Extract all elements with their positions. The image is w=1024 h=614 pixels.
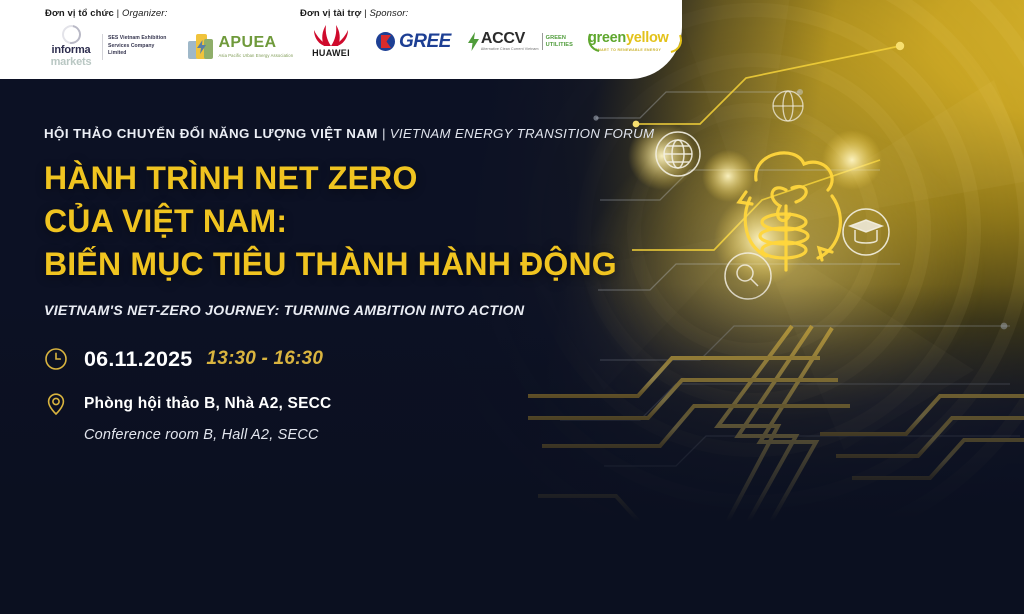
informa-company-name: SES Vietnam Exhibition Services Company …	[108, 35, 166, 58]
accv-tag-utilities: UTILITIES	[546, 42, 573, 49]
clock-icon	[44, 347, 68, 371]
event-venue-row: Phòng hội thảo B, Nhà A2, SECC	[44, 392, 654, 416]
huawei-flower-icon	[314, 25, 348, 46]
informa-company-line3: Limited	[108, 50, 166, 58]
huawei-logo: HUAWEI	[300, 25, 362, 58]
sponsor-group: Đơn vị tài trợ | Sponsor: HUAWEI	[300, 8, 668, 58]
informa-logo-mark: informa markets	[45, 25, 97, 68]
huawei-wordmark: HUAWEI	[312, 48, 350, 58]
sponsor-logo-row: HUAWEI GREE ACCV Alternative Clean Curre…	[300, 25, 668, 58]
apuea-subtitle: Asia Pacific Urban Energy Association	[218, 53, 293, 58]
forum-eyebrow-vi: HỘI THẢO CHUYỂN ĐỔI NĂNG LƯỢNG VIỆT NAM	[44, 126, 378, 141]
accv-text: ACCV Alternative Clean Current Vietnam	[481, 31, 539, 51]
informa-wordmark-line2: markets	[51, 57, 92, 69]
accv-divider	[542, 33, 543, 50]
greenyellow-logo: greenyellow SMART TO RENEWABLE ENERGY	[588, 31, 669, 52]
map-pin-icon	[44, 392, 68, 416]
headline-line-1: HÀNH TRÌNH NET ZERO	[44, 157, 654, 200]
event-venue-vi: Phòng hội thảo B, Nhà A2, SECC	[84, 395, 331, 413]
event-date: 06.11.2025	[84, 347, 192, 372]
event-details: 06.11.2025 13:30 - 16:30 Phòng hội thảo …	[44, 347, 654, 443]
accv-bolt-icon	[468, 32, 479, 51]
sponsor-header-card: Đơn vị tổ chức | Organizer: informa mark…	[0, 0, 682, 79]
greenyellow-swoosh-icon	[585, 29, 685, 53]
apuea-buildings-icon	[188, 34, 213, 59]
forum-eyebrow-sep: |	[378, 126, 390, 141]
event-time: 13:30 - 16:30	[206, 348, 323, 370]
apuea-text: APUEA Asia Pacific Urban Energy Associat…	[218, 35, 293, 58]
accv-wordmark: ACCV	[481, 31, 539, 47]
event-content: HỘI THẢO CHUYỂN ĐỔI NĂNG LƯỢNG VIỆT NAM …	[44, 126, 654, 443]
gree-mark-icon	[376, 32, 395, 51]
headline-line-3: BIẾN MỤC TIÊU THÀNH HÀNH ĐỘNG	[44, 243, 654, 286]
informa-company-line1: SES Vietnam Exhibition	[108, 35, 166, 43]
informa-wordmark-line1: informa	[52, 45, 91, 57]
accv-tagline: GREEN UTILITIES	[546, 35, 573, 49]
gree-logo: GREE	[376, 32, 451, 51]
event-venue-en: Conference room B, Hall A2, SECC	[84, 427, 654, 443]
sponsor-label-vi: Đơn vị tài trợ	[300, 8, 361, 19]
organizer-label-en: Organizer:	[122, 8, 167, 19]
informa-markets-logo: informa markets SES Vietnam Exhibition S…	[45, 25, 166, 68]
apuea-bolt-icon	[197, 40, 206, 54]
informa-company-line2: Services Company	[108, 43, 166, 51]
accv-subtitle: Alternative Clean Current Vietnam	[481, 47, 539, 51]
accv-logo: ACCV Alternative Clean Current Vietnam G…	[468, 31, 573, 51]
organizer-label: Đơn vị tổ chức | Organizer:	[45, 8, 293, 19]
globe-icon	[773, 91, 803, 121]
organizer-label-vi: Đơn vị tổ chức	[45, 8, 114, 19]
organizer-group: Đơn vị tổ chức | Organizer: informa mark…	[45, 8, 293, 68]
sponsor-label: Đơn vị tài trợ | Sponsor:	[300, 8, 668, 19]
headline-line-2: CỦA VIỆT NAM:	[44, 200, 654, 243]
forum-eyebrow: HỘI THẢO CHUYỂN ĐỔI NĂNG LƯỢNG VIỆT NAM …	[44, 126, 654, 141]
sponsor-label-sep: |	[364, 8, 367, 19]
gree-wordmark: GREE	[399, 32, 451, 51]
forum-eyebrow-en: VIETNAM ENERGY TRANSITION FORUM	[390, 126, 655, 141]
apuea-logo: APUEA Asia Pacific Urban Energy Associat…	[188, 34, 293, 59]
event-headline: HÀNH TRÌNH NET ZERO CỦA VIỆT NAM: BIẾN M…	[44, 157, 654, 286]
organizer-logo-row: informa markets SES Vietnam Exhibition S…	[45, 25, 293, 68]
graduation-cap-icon	[843, 209, 889, 255]
informa-divider	[102, 34, 103, 60]
headline-subtitle-en: VIETNAM'S NET-ZERO JOURNEY: TURNING AMBI…	[44, 303, 654, 319]
accv-tag-green: GREEN	[546, 35, 573, 42]
sponsor-label-en: Sponsor:	[369, 8, 408, 19]
apuea-wordmark: APUEA	[218, 35, 293, 51]
organizer-label-sep: |	[117, 8, 120, 19]
event-datetime-row: 06.11.2025 13:30 - 16:30	[44, 347, 654, 372]
event-banner: Đơn vị tổ chức | Organizer: informa mark…	[0, 0, 1024, 614]
